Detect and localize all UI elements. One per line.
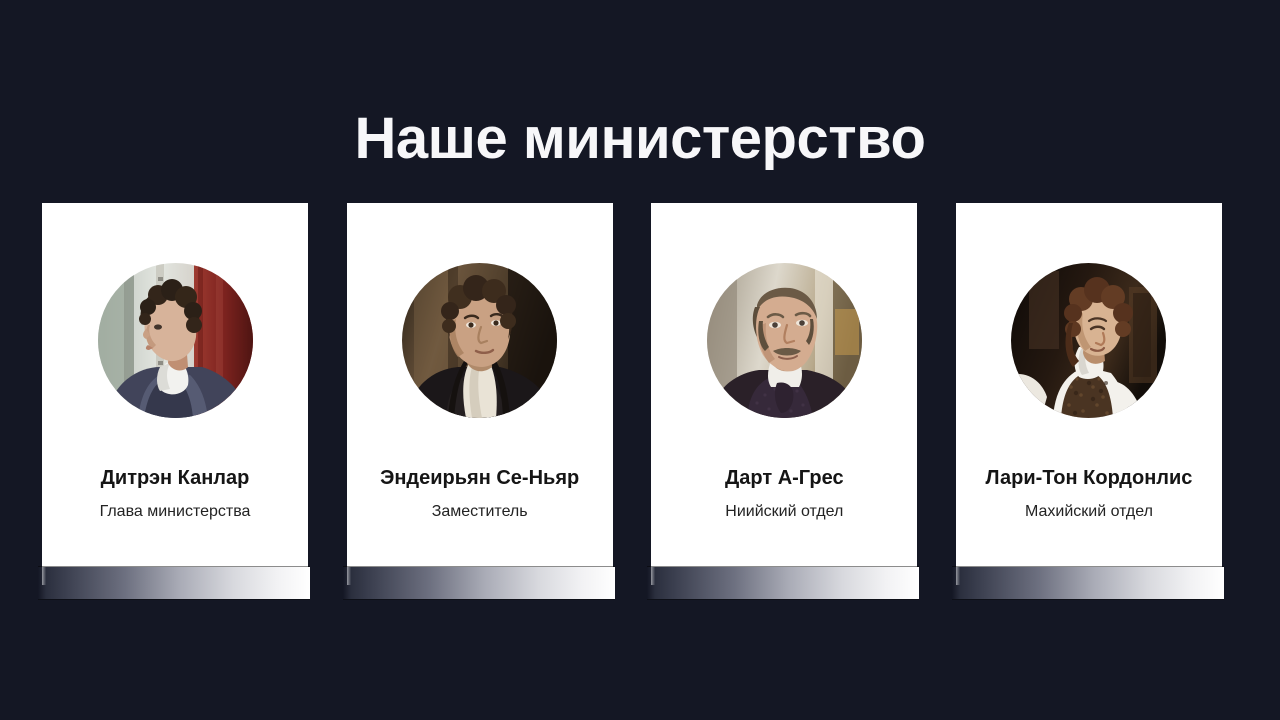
person-name: Дитрэн Канлар xyxy=(101,466,250,490)
person-role: Заместитель xyxy=(432,502,528,521)
person-role: Ниийский отдел xyxy=(725,502,843,521)
avatar xyxy=(402,263,557,418)
avatar xyxy=(707,263,862,418)
team-member-card[interactable]: Дарт А-Грес Ниийский отдел xyxy=(651,203,917,585)
team-member-card[interactable]: Эндеирьян Се-Ньяр Заместитель xyxy=(347,203,613,585)
card-bottom-gradient xyxy=(647,567,919,599)
person-name: Дарт А-Грес xyxy=(725,466,844,490)
page-title: Наше министерство xyxy=(0,107,1280,171)
team-member-card[interactable]: Лари-Тон Кордонлис Махийский отдел xyxy=(956,203,1222,585)
person-name: Лари-Тон Кордонлис xyxy=(986,466,1193,490)
card-bottom-gradient xyxy=(343,567,615,599)
person-role: Глава министерства xyxy=(100,502,251,521)
avatar xyxy=(98,263,253,418)
team-member-card[interactable]: Дитрэн Канлар Глава министерства xyxy=(42,203,308,585)
team-card-row: Дитрэн Канлар Глава министерства xyxy=(42,203,1222,585)
card-bottom-gradient xyxy=(952,567,1224,599)
avatar xyxy=(1011,263,1166,418)
slide-root: Наше министерство xyxy=(0,0,1280,720)
person-role: Махийский отдел xyxy=(1025,502,1153,521)
card-bottom-gradient xyxy=(38,567,310,599)
person-name: Эндеирьян Се-Ньяр xyxy=(380,466,579,490)
